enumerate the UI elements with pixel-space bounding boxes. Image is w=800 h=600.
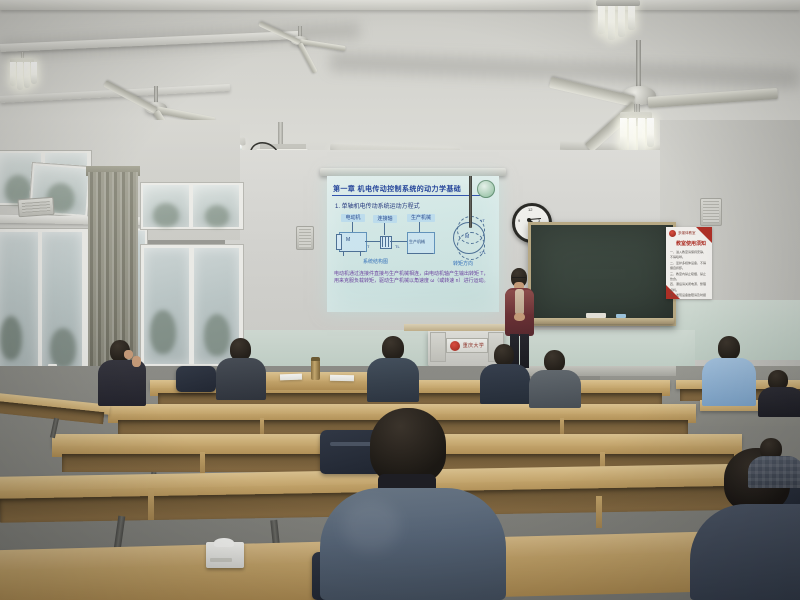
chalk-tray — [524, 318, 674, 324]
instructor-sleeve-right — [524, 290, 534, 314]
diagram-label-motor: 电动机 — [341, 214, 365, 222]
rotor-symbol: M — [465, 234, 469, 240]
student-foreground — [316, 408, 506, 600]
fan-blade — [300, 39, 346, 51]
poster-header: 多媒体教室 — [678, 231, 696, 236]
handout-paper[interactable] — [280, 374, 302, 381]
rotor-arrow-label-2: +TL — [479, 250, 486, 255]
student-hand — [132, 356, 141, 367]
poster-item: 二、爱护多媒体设备，不得擅自拆卸。 — [670, 261, 708, 272]
slide-diagram-system: 电动机 连接轴 生产机械 M 生产机械 — [335, 214, 439, 266]
jacket-highlight — [342, 500, 400, 552]
tea-thermos[interactable] — [311, 360, 320, 380]
student-head — [370, 408, 446, 484]
diagram-torque-left: T — [367, 244, 369, 249]
tissue-box[interactable] — [206, 542, 244, 568]
student-jacket — [216, 358, 266, 400]
student-jacket — [320, 488, 506, 600]
student-jacket — [529, 370, 581, 408]
slide-title-rule — [332, 195, 484, 196]
pointer-stick — [469, 176, 472, 228]
university-emblem-icon — [450, 341, 460, 351]
tissue-sheet — [214, 538, 234, 547]
diagram-motor-symbol: M — [346, 237, 350, 243]
ceiling-fan[interactable] — [252, 26, 348, 70]
diagram-label-shaft: 连接轴 — [373, 215, 397, 223]
diagram-caption-right: 转矩方向 — [453, 260, 473, 267]
glasses-icon — [512, 277, 526, 281]
student-jacket — [758, 387, 800, 417]
pendant-light[interactable] — [596, 0, 640, 44]
poster-item: 四、课后请关闭电源、整理桌椅。 — [670, 282, 708, 293]
student-jacket — [98, 360, 146, 406]
student-head — [544, 350, 565, 372]
student-right-grey — [528, 350, 582, 408]
university-seal-icon — [477, 180, 495, 198]
poster-item: 五、发现设备故障请及时报修。 — [670, 293, 708, 299]
fan-blade — [298, 42, 318, 73]
student-shirt — [702, 358, 756, 406]
board-marker[interactable] — [616, 314, 626, 318]
backpack[interactable] — [176, 366, 216, 392]
instructor-sleeve-left — [505, 290, 515, 314]
fan-blade — [648, 88, 778, 108]
screen-housing[interactable] — [320, 168, 506, 176]
wall-speaker — [700, 198, 722, 226]
instructor-inner-top — [515, 289, 524, 315]
chalkboard-eraser[interactable] — [586, 313, 606, 318]
classroom-photo-scene: 第一章 机电传动控制系统的动力学基础 1. 单轴机电传动系统运动方程式 电动机 … — [0, 0, 800, 600]
student-head — [494, 344, 514, 366]
student-center-right — [480, 344, 532, 404]
student-left-front — [96, 340, 152, 406]
diagram-label-load: 生产机械 — [407, 214, 435, 222]
air-conditioner-vent — [17, 197, 54, 217]
student-head — [382, 336, 404, 360]
student-far-right-dark — [758, 370, 800, 416]
podium-panel-left — [430, 332, 446, 362]
rotor-arrow-label-1: +T — [480, 218, 485, 223]
wall-speaker — [296, 226, 314, 250]
diagram-load-symbol: 生产机械 — [409, 239, 425, 245]
poster-emblem-icon — [669, 230, 676, 237]
slide-title: 第一章 机电传动控制系统的动力学基础 — [333, 184, 489, 194]
instructor-hands — [514, 313, 525, 321]
student-left-mid — [214, 338, 270, 400]
student-right-blue — [700, 336, 758, 406]
diagram-torque-right: TL — [395, 244, 400, 249]
shelf-divider — [596, 496, 602, 528]
slide-body-text: 电动机通过连接件直接与生产机械相连，由电动机轴产生输出转矩 T，用来克服负载转矩… — [334, 271, 492, 286]
student-jacket — [480, 364, 530, 404]
poster-item: 一、进入教室请保持安静，不得喧哗。 — [670, 250, 708, 261]
slide-subtitle: 1. 单轴机电传动系统运动方程式 — [335, 201, 420, 210]
ceiling-beam — [0, 0, 800, 10]
clock-mark-12: 12 — [528, 207, 532, 212]
clock-mark-9: 9 — [518, 218, 520, 223]
tissue-box-label — [210, 558, 232, 562]
student-center-front — [366, 336, 422, 402]
poster-title: 教室使用须知 — [676, 240, 706, 247]
handout-paper[interactable] — [330, 375, 354, 381]
student-jacket — [690, 504, 800, 600]
pendant-light[interactable] — [6, 52, 40, 94]
student-head — [718, 336, 740, 360]
shelf-divider — [148, 488, 154, 520]
student-jacket — [748, 456, 800, 488]
classroom-notice-poster[interactable]: 多媒体教室 教室使用须知 一、进入教室请保持安静，不得喧哗。 二、爱护多媒体设备… — [666, 227, 712, 299]
green-chalkboard[interactable] — [528, 222, 676, 326]
projection-screen[interactable]: 第一章 机电传动控制系统的动力学基础 1. 单轴机电传动系统运动方程式 电动机 … — [327, 176, 499, 312]
window-transom-right — [140, 182, 244, 230]
student-jacket — [367, 358, 419, 402]
diagram-caption-left: 系统结构图 — [363, 258, 388, 265]
poster-item-list: 一、进入教室请保持安静，不得喧哗。 二、爱护多媒体设备，不得擅自拆卸。 三、教室… — [670, 250, 708, 299]
thermos-cap — [311, 357, 320, 361]
student-far-right-plaid — [748, 438, 800, 486]
poster-item: 三、教室内禁止吸烟、禁止饮食。 — [670, 272, 708, 283]
fan-blade — [103, 80, 157, 113]
window-main-left[interactable] — [0, 228, 90, 378]
